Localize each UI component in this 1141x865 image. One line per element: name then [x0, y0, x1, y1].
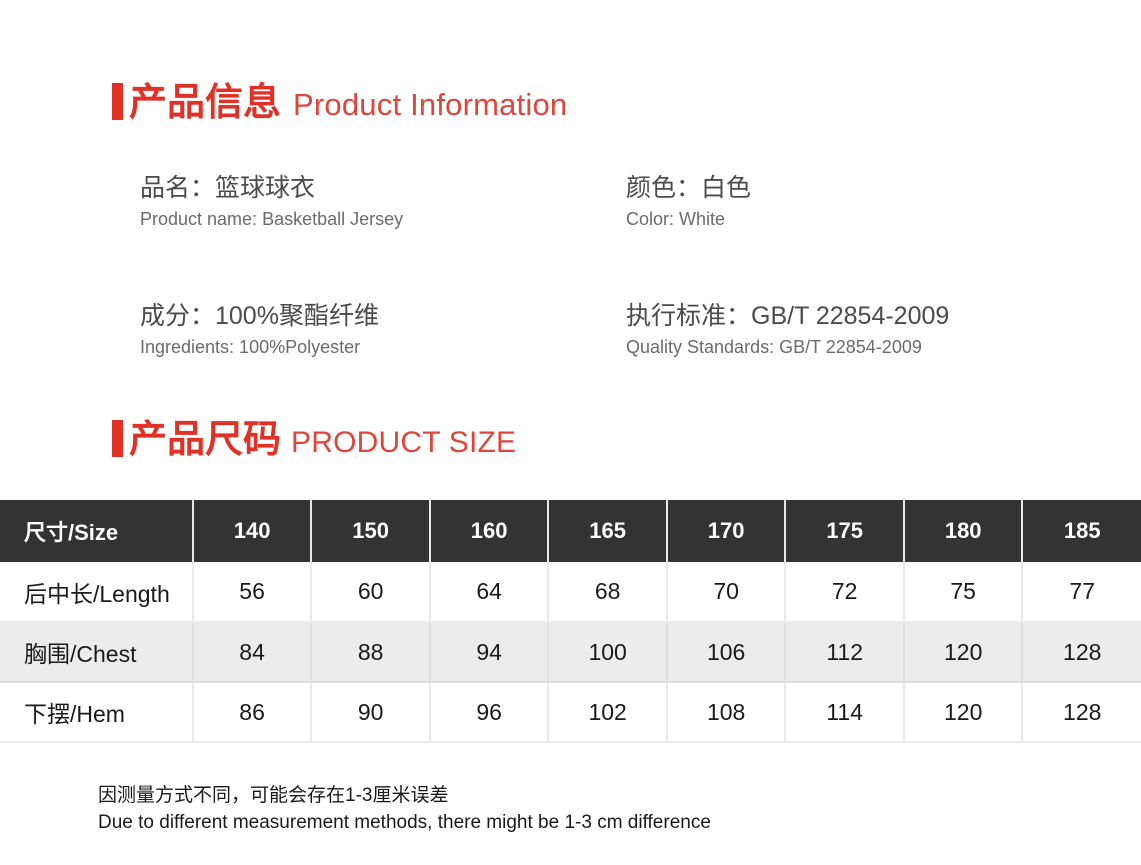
cell-hem-140: 86	[193, 682, 312, 742]
section-title-en: PRODUCT SIZE	[291, 428, 516, 458]
info-row: 品名：篮球球衣 Product name: Basketball Jersey …	[140, 172, 1120, 232]
info-item-color: 颜色：白色 Color: White	[626, 172, 1120, 232]
table-row: 胸围/Chest 84 88 94 100 106 112 120 128	[0, 622, 1141, 682]
cell-length-150: 60	[311, 562, 430, 622]
section-title-en: Product Information	[293, 89, 567, 120]
cell-hem-165: 102	[548, 682, 667, 742]
cell-length-140: 56	[193, 562, 312, 622]
cell-chest-180: 120	[904, 622, 1023, 682]
info-item-quality-standards: 执行标准：GB/T 22854-2009 Quality Standards: …	[626, 300, 1120, 360]
info-row: 成分：100%聚酯纤维 Ingredients: 100%Polyester 执…	[140, 300, 1120, 360]
accent-bar-icon	[112, 420, 123, 457]
section-title-cn: 产品尺码	[129, 421, 281, 459]
row-label-length: 后中长/Length	[0, 562, 193, 622]
column-header-160: 160	[430, 500, 549, 562]
table-header-row: 尺寸/Size 140 150 160 165 170 175 180 185	[0, 500, 1141, 562]
cell-chest-150: 88	[311, 622, 430, 682]
cell-hem-185: 128	[1022, 682, 1141, 742]
product-detail-page: { "theme": { "accent_red": "#E03127", "h…	[0, 0, 1141, 865]
cell-chest-170: 106	[667, 622, 786, 682]
size-chart-table: 尺寸/Size 140 150 160 165 170 175 180 185 …	[0, 500, 1141, 743]
info-label-cn: 成分：100%聚酯纤维	[140, 300, 626, 332]
row-label-hem: 下摆/Hem	[0, 682, 193, 742]
cell-hem-180: 120	[904, 682, 1023, 742]
cell-length-180: 75	[904, 562, 1023, 622]
accent-bar-icon	[112, 83, 123, 120]
table-row: 下摆/Hem 86 90 96 102 108 114 120 128	[0, 682, 1141, 742]
info-label-en: Color: White	[626, 206, 1120, 232]
cell-length-160: 64	[430, 562, 549, 622]
column-header-size-label: 尺寸/Size	[0, 500, 193, 562]
cell-chest-165: 100	[548, 622, 667, 682]
cell-hem-150: 90	[311, 682, 430, 742]
info-label-en: Ingredients: 100%Polyester	[140, 334, 626, 360]
cell-length-185: 77	[1022, 562, 1141, 622]
cell-hem-175: 114	[785, 682, 904, 742]
row-label-chest: 胸围/Chest	[0, 622, 193, 682]
column-header-170: 170	[667, 500, 786, 562]
cell-hem-170: 108	[667, 682, 786, 742]
column-header-150: 150	[311, 500, 430, 562]
column-header-165: 165	[548, 500, 667, 562]
table-row: 后中长/Length 56 60 64 68 70 72 75 77	[0, 562, 1141, 622]
section-heading-product-information: 产品信息 Product Information	[112, 78, 567, 122]
cell-hem-160: 96	[430, 682, 549, 742]
info-item-product-name: 品名：篮球球衣 Product name: Basketball Jersey	[140, 172, 626, 232]
cell-chest-140: 84	[193, 622, 312, 682]
measurement-disclaimer: 因测量方式不同，可能会存在1-3厘米误差 Due to different me…	[98, 782, 711, 836]
section-title-cn: 产品信息	[129, 84, 281, 122]
size-chart-header: 尺寸/Size 140 150 160 165 170 175 180 185	[0, 500, 1141, 562]
column-header-140: 140	[193, 500, 312, 562]
info-label-cn: 颜色：白色	[626, 172, 1120, 204]
column-header-185: 185	[1022, 500, 1141, 562]
column-header-175: 175	[785, 500, 904, 562]
cell-chest-175: 112	[785, 622, 904, 682]
info-label-cn: 品名：篮球球衣	[140, 172, 626, 204]
column-header-180: 180	[904, 500, 1023, 562]
cell-length-175: 72	[785, 562, 904, 622]
section-heading-product-size: 产品尺码 PRODUCT SIZE	[112, 415, 516, 459]
info-item-ingredients: 成分：100%聚酯纤维 Ingredients: 100%Polyester	[140, 300, 626, 360]
disclaimer-cn: 因测量方式不同，可能会存在1-3厘米误差	[98, 782, 711, 809]
size-chart-body: 后中长/Length 56 60 64 68 70 72 75 77 胸围/Ch…	[0, 562, 1141, 742]
info-label-cn: 执行标准：GB/T 22854-2009	[626, 300, 1120, 332]
disclaimer-en: Due to different measurement methods, th…	[98, 809, 711, 836]
product-information-grid: 品名：篮球球衣 Product name: Basketball Jersey …	[140, 172, 1120, 390]
info-label-en: Product name: Basketball Jersey	[140, 206, 626, 232]
cell-length-170: 70	[667, 562, 786, 622]
info-label-en: Quality Standards: GB/T 22854-2009	[626, 334, 1120, 360]
cell-chest-185: 128	[1022, 622, 1141, 682]
cell-length-165: 68	[548, 562, 667, 622]
cell-chest-160: 94	[430, 622, 549, 682]
